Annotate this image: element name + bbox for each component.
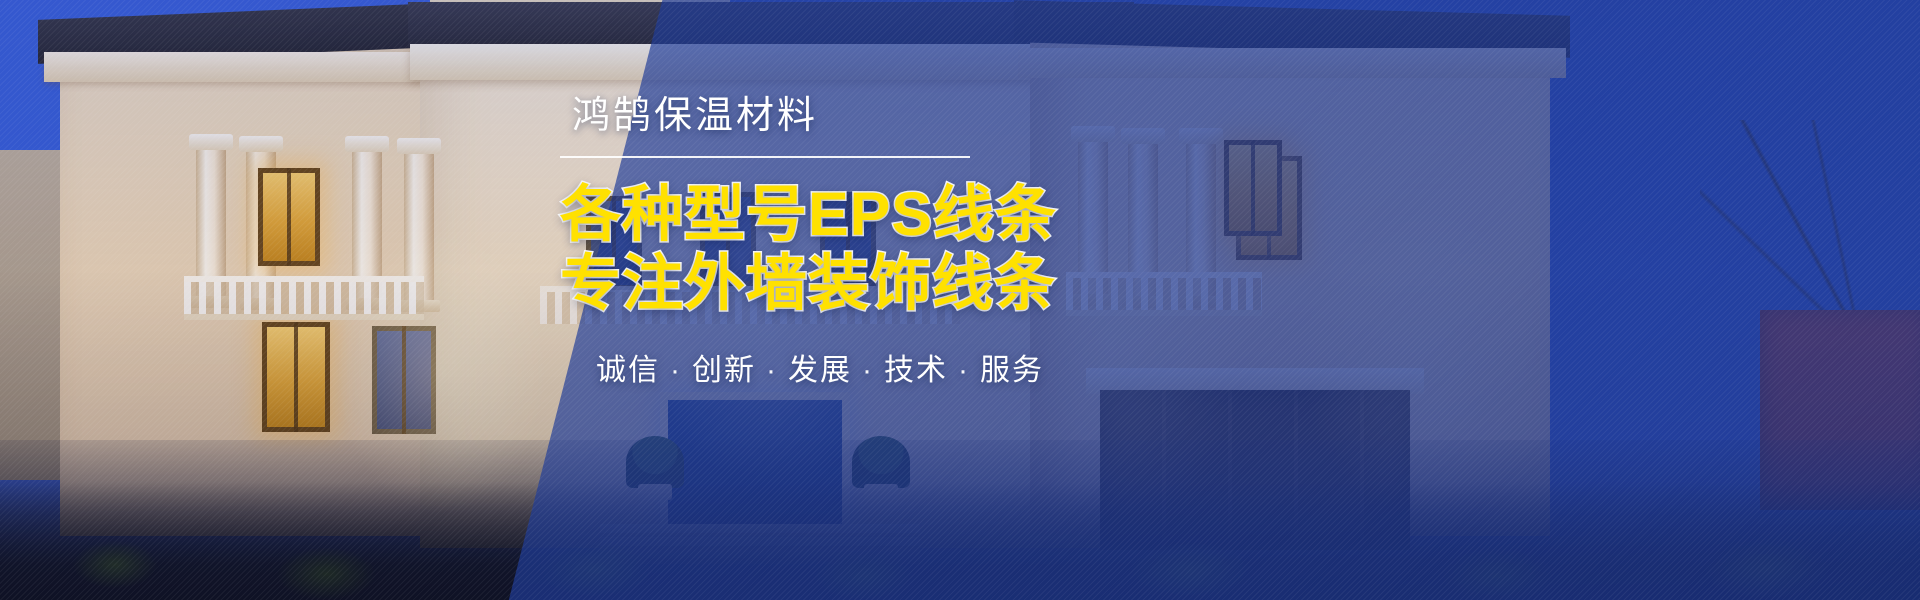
tagline-item: 技术 bbox=[884, 354, 948, 387]
tagline-separator: · bbox=[862, 354, 874, 387]
headline-line-1: 各种型号EPS线条 bbox=[560, 180, 1460, 250]
tagline-separator: · bbox=[670, 354, 682, 387]
tagline-item: 服务 bbox=[980, 354, 1044, 387]
brand-divider bbox=[560, 156, 970, 158]
tagline-item: 发展 bbox=[788, 354, 852, 387]
tagline-separator: · bbox=[766, 354, 778, 387]
tagline-separator: · bbox=[958, 354, 970, 387]
headline-line-2: 专注外墙装饰线条 bbox=[560, 249, 1460, 319]
banner-root: 鸿鹄保温材料 各种型号EPS线条 专注外墙装饰线条 诚信·创新·发展·技术·服务 bbox=[0, 0, 1920, 600]
brand-name: 鸿鹄保温材料 bbox=[572, 96, 1460, 138]
tagline: 诚信·创新·发展·技术·服务 bbox=[596, 345, 1460, 389]
tagline-item: 诚信 bbox=[596, 354, 660, 387]
tagline-item: 创新 bbox=[692, 354, 756, 387]
banner-text-block: 鸿鹄保温材料 各种型号EPS线条 专注外墙装饰线条 诚信·创新·发展·技术·服务 bbox=[560, 96, 1460, 389]
